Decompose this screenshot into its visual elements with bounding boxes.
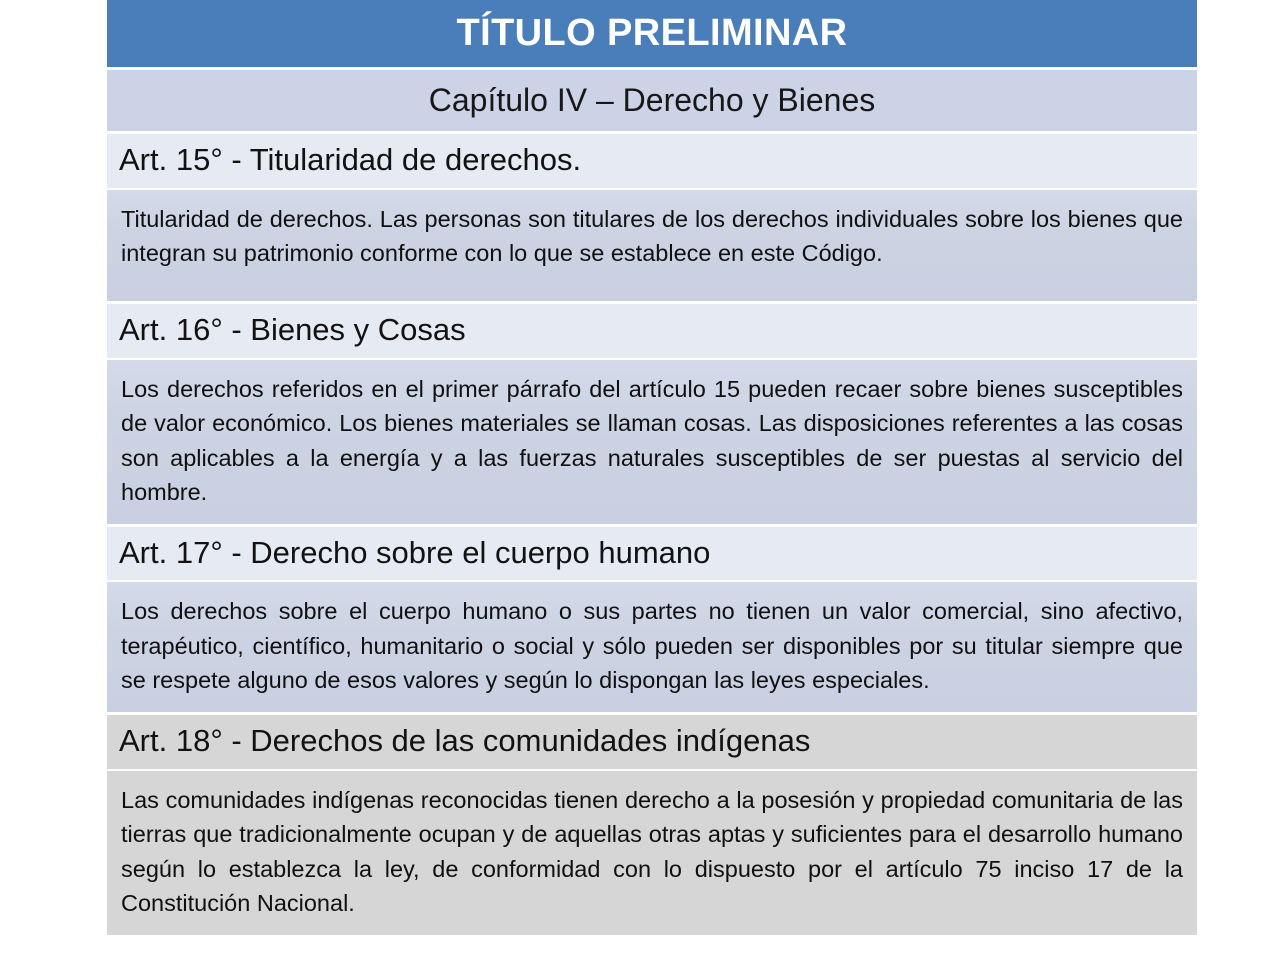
article-heading-17: Art. 17° - Derecho sobre el cuerpo human…	[107, 527, 1197, 581]
article-heading-18: Art. 18° - Derechos de las comunidades i…	[107, 715, 1197, 769]
chapter-subtitle: Capítulo IV – Derecho y Bienes	[107, 70, 1197, 131]
law-articles-table: TÍTULO PRELIMINAR Capítulo IV – Derecho …	[107, 0, 1197, 935]
article-body-text: Titularidad de derechos. Las personas so…	[121, 202, 1183, 271]
article-body-18: Las comunidades indígenas reconocidas ti…	[107, 771, 1197, 935]
document-title: TÍTULO PRELIMINAR	[107, 0, 1197, 67]
article-body-text: Los derechos referidos en el primer párr…	[121, 372, 1183, 510]
article-body-text: Las comunidades indígenas reconocidas ti…	[121, 783, 1183, 921]
article-body-15: Titularidad de derechos. Las personas so…	[107, 190, 1197, 301]
article-heading-16: Art. 16° - Bienes y Cosas	[107, 304, 1197, 358]
article-heading-15: Art. 15° - Titularidad de derechos.	[107, 134, 1197, 188]
article-body-text: Los derechos sobre el cuerpo humano o su…	[121, 594, 1183, 698]
article-body-16: Los derechos referidos en el primer párr…	[107, 360, 1197, 524]
slide-canvas: TÍTULO PRELIMINAR Capítulo IV – Derecho …	[0, 0, 1280, 960]
article-body-17: Los derechos sobre el cuerpo humano o su…	[107, 582, 1197, 712]
